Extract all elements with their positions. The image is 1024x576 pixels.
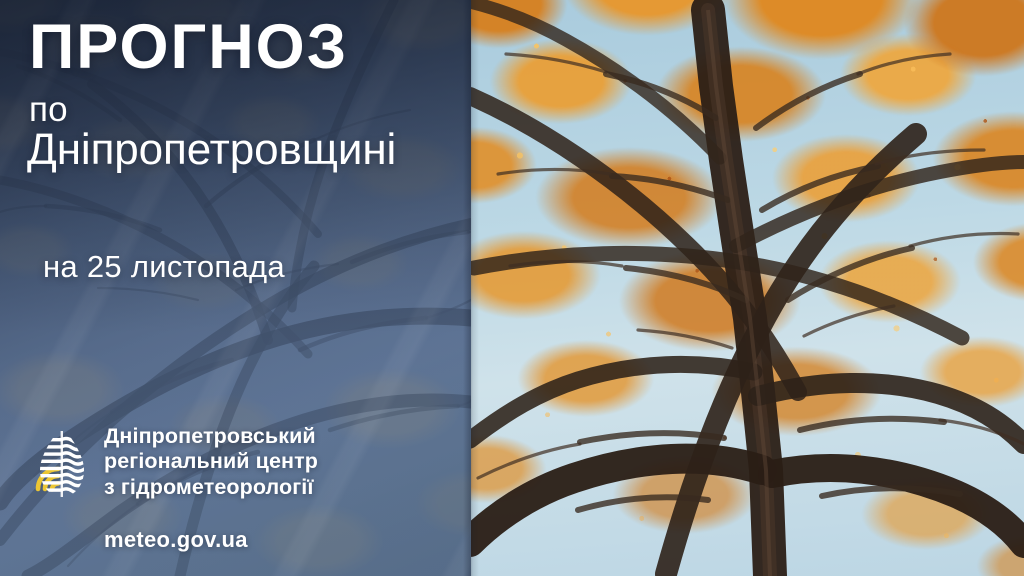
banner-content: ПРОГНОЗ по Дніпропетровщині на 25 листоп… [0, 0, 1024, 576]
organization-name-line-2: регіональний центр [104, 449, 318, 474]
droplet-waves-sun-logo-icon [34, 425, 90, 499]
organization-name-line-1: Дніпропетровський [104, 424, 318, 449]
forecast-date: на 25 листопада [43, 249, 285, 285]
page-title: ПРОГНОЗ [29, 16, 348, 79]
organization-name: Дніпропетровський регіональний центр з г… [104, 424, 318, 500]
forecast-banner: ПРОГНОЗ по Дніпропетровщині на 25 листоп… [0, 0, 1024, 576]
organization-logo: Дніпропетровський регіональний центр з г… [34, 424, 318, 500]
region-prefix: по [29, 92, 68, 127]
region-name: Дніпропетровщині [27, 128, 396, 172]
website-url[interactable]: meteo.gov.ua [104, 527, 248, 553]
organization-name-line-3: з гідрометеорології [104, 475, 318, 500]
